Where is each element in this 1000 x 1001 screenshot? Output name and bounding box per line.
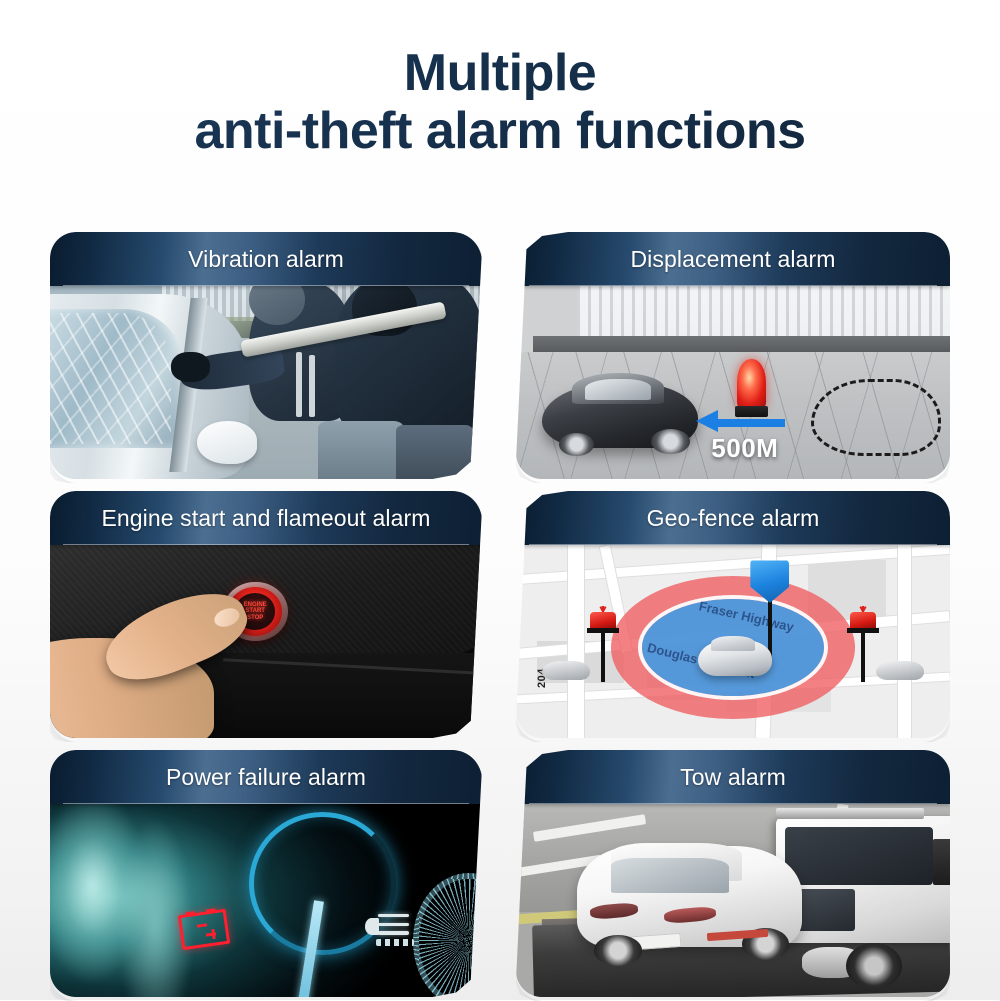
feature-card-power-failure-alarm[interactable]: Power failure alarm: [50, 750, 482, 997]
start-button-label-line3: STOP: [247, 615, 263, 621]
feature-card-tow-alarm[interactable]: Tow alarm: [516, 750, 950, 997]
car-rear-wheel: [651, 429, 690, 454]
towed-car-rear-window: [611, 858, 728, 893]
vibration-alarm-photo: [50, 286, 482, 479]
vibration-alarm-title: Vibration alarm: [188, 246, 344, 273]
page-title-line-1: Multiple: [0, 46, 1000, 100]
map-car-right: [876, 661, 924, 680]
geo-fence-title: Geo-fence alarm: [647, 505, 820, 532]
power-failure-title: Power failure alarm: [166, 764, 366, 791]
vibration-alarm-header: Vibration alarm: [50, 232, 482, 286]
displacement-alarm-photo: 500M: [516, 286, 950, 479]
feature-card-grid: Vibration alarm: [0, 232, 1000, 992]
glove-icon: [171, 352, 210, 383]
start-button-label-line2: START: [245, 608, 265, 614]
tow-alarm-photo: [516, 804, 950, 997]
cab-window: [785, 827, 933, 885]
alarm-beacon-icon: [585, 607, 620, 638]
infographic-page: Multiple anti-theft alarm functions: [0, 0, 1000, 1000]
alarm-beacon-icon: [846, 607, 881, 638]
car-front-wheel: [559, 433, 594, 456]
map-car-left: [542, 661, 590, 680]
temp-wave: [378, 931, 409, 934]
feature-card-vibration-alarm[interactable]: Vibration alarm: [50, 232, 482, 479]
truck-side-mirror: [933, 839, 950, 885]
feature-row-1: Vibration alarm: [0, 232, 1000, 479]
tow-alarm-title: Tow alarm: [680, 764, 786, 791]
alarm-beacon-icon: [737, 359, 766, 407]
feature-row-2: ENGINE START STOP Engine start and flame…: [0, 491, 1000, 738]
beacon-ray: [602, 606, 606, 612]
engine-start-header: Engine start and flameout alarm: [50, 491, 482, 545]
geo-fence-header: Geo-fence alarm: [516, 491, 950, 545]
engine-start-title: Engine start and flameout alarm: [101, 505, 430, 532]
map-road: [898, 545, 911, 738]
protected-vehicle-roof: [711, 636, 754, 651]
displacement-distance-label: 500M: [711, 433, 778, 464]
beacon-pole: [861, 633, 864, 682]
temp-fluid-line: [376, 939, 414, 946]
displacement-alarm-title: Displacement alarm: [630, 246, 835, 273]
feature-card-engine-start-flameout-alarm[interactable]: ENGINE START STOP Engine start and flame…: [50, 491, 482, 738]
displacement-alarm-header: Displacement alarm: [516, 232, 950, 286]
geo-fence-map: 204 Fraser Highway Douglas Crescent: [516, 545, 950, 738]
alarm-beacon-base: [735, 406, 768, 418]
car-windshield: [585, 379, 650, 400]
coolant-temperature-icon: [365, 912, 417, 943]
battery-warning-icon: [177, 909, 229, 950]
beacon-pole: [601, 633, 604, 682]
thief-one-legs: [318, 421, 404, 479]
temp-wave: [378, 923, 409, 926]
power-failure-header: Power failure alarm: [50, 750, 482, 804]
engine-start-photo: ENGINE START STOP: [50, 545, 482, 738]
hood-strap: [296, 352, 302, 418]
feature-card-geo-fence-alarm[interactable]: 204 Fraser Highway Douglas Crescent: [516, 491, 950, 738]
beacon-ray: [863, 606, 867, 612]
temp-wave: [378, 914, 409, 917]
cab-light-bar: [776, 808, 924, 820]
tow-alarm-header: Tow alarm: [516, 750, 950, 804]
page-title-line-2: anti-theft alarm functions: [0, 104, 1000, 158]
beacon-dome: [850, 612, 876, 629]
feature-card-displacement-alarm[interactable]: 500M Displacement alarm: [516, 232, 950, 479]
page-title: Multiple anti-theft alarm functions: [0, 46, 1000, 158]
map-road: [568, 545, 584, 738]
feature-row-3: Power failure alarm: [0, 750, 1000, 997]
temp-bulb: [365, 918, 378, 935]
original-parking-outline: [811, 379, 941, 456]
towed-car-wheel: [594, 935, 642, 966]
shattered-glass-icon: [50, 313, 171, 444]
beacon-dome: [590, 612, 616, 629]
power-failure-photo: [50, 804, 482, 997]
hood-strap: [309, 355, 315, 417]
instrument-glow: [50, 804, 231, 997]
displacement-arrow-icon: [707, 419, 785, 427]
car-side-mirror: [197, 421, 257, 463]
tachometer-ticks: [413, 873, 482, 997]
